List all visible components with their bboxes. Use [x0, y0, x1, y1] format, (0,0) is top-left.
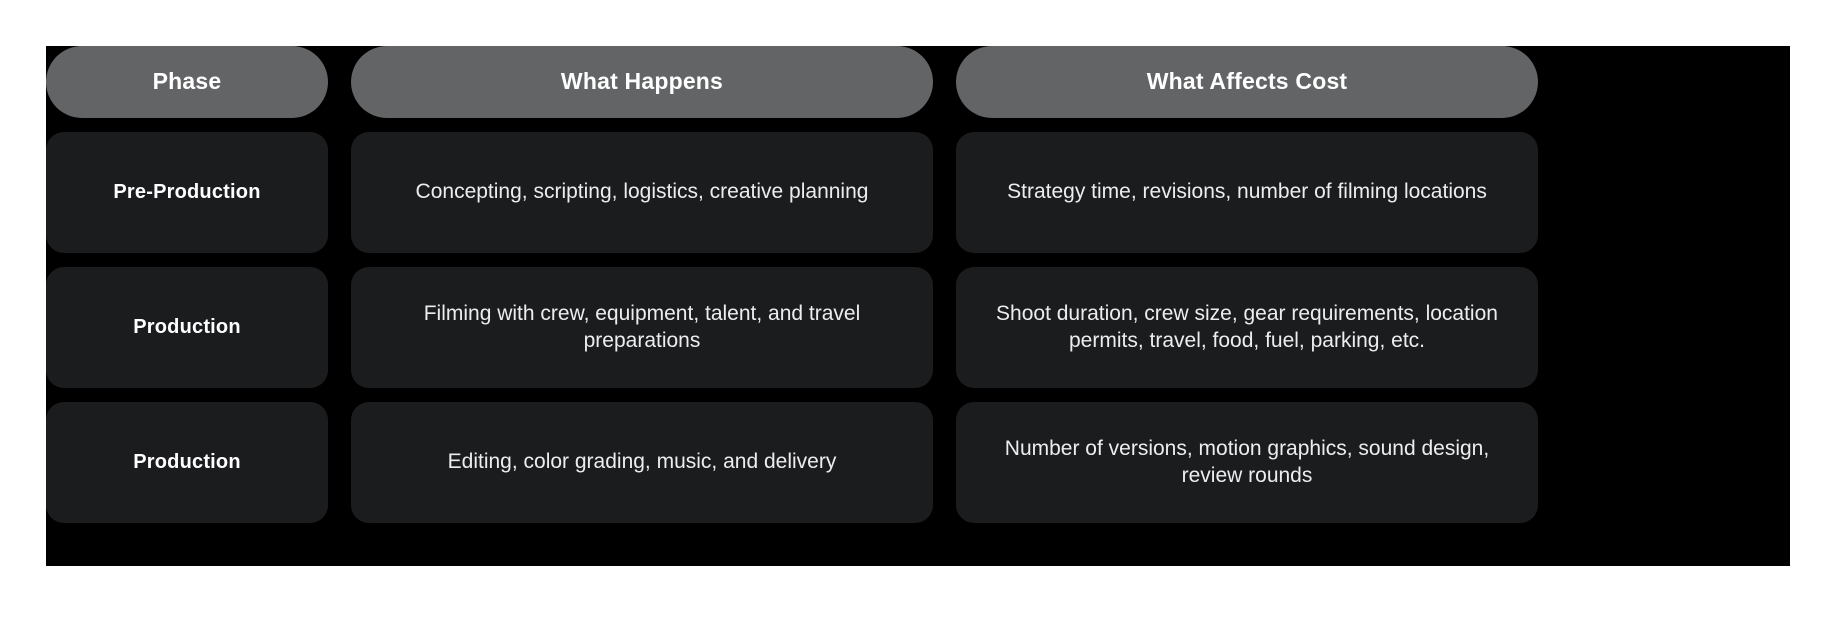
cell-phase[interactable]: Pre-Production — [46, 132, 328, 253]
column-header-what-happens-label: What Happens — [561, 68, 723, 96]
cell-what-affects-cost[interactable]: Number of versions, motion graphics, sou… — [956, 402, 1538, 523]
column-gap — [328, 402, 351, 523]
cell-what-happens-text: Concepting, scripting, logistics, creati… — [416, 179, 869, 206]
column-header-what-affects-cost[interactable]: What Affects Cost — [956, 46, 1538, 118]
column-gap — [933, 267, 956, 388]
cell-what-happens[interactable]: Filming with crew, equipment, talent, an… — [351, 267, 933, 388]
table-row: Production Filming with crew, equipment,… — [46, 267, 1790, 388]
column-gap — [328, 132, 351, 253]
page-root: Phase What Happens What Affects Cost Pre… — [0, 0, 1835, 620]
table-row: Pre-Production Concepting, scripting, lo… — [46, 132, 1790, 253]
column-gap — [933, 402, 956, 523]
production-phases-table: Phase What Happens What Affects Cost Pre… — [46, 46, 1790, 566]
cell-what-affects-cost-text: Number of versions, motion graphics, sou… — [982, 436, 1512, 490]
cell-what-affects-cost-text: Shoot duration, crew size, gear requirem… — [982, 301, 1512, 355]
column-gap — [933, 132, 956, 253]
cell-phase-text: Pre-Production — [113, 180, 260, 206]
column-gap — [933, 46, 956, 118]
cell-phase-text: Production — [133, 315, 241, 341]
table-header-row: Phase What Happens What Affects Cost — [46, 46, 1790, 118]
cell-what-happens-text: Editing, color grading, music, and deliv… — [448, 449, 837, 476]
table-row: Production Editing, color grading, music… — [46, 402, 1790, 523]
column-gap — [328, 46, 351, 118]
cell-what-happens-text: Filming with crew, equipment, talent, an… — [377, 301, 907, 355]
cell-what-affects-cost[interactable]: Shoot duration, crew size, gear requirem… — [956, 267, 1538, 388]
cell-what-happens[interactable]: Editing, color grading, music, and deliv… — [351, 402, 933, 523]
cell-phase-text: Production — [133, 450, 241, 476]
cell-what-affects-cost[interactable]: Strategy time, revisions, number of film… — [956, 132, 1538, 253]
column-header-what-happens[interactable]: What Happens — [351, 46, 933, 118]
column-header-phase-label: Phase — [153, 68, 222, 96]
cell-phase[interactable]: Production — [46, 267, 328, 388]
column-header-phase[interactable]: Phase — [46, 46, 328, 118]
cell-phase[interactable]: Production — [46, 402, 328, 523]
cell-what-affects-cost-text: Strategy time, revisions, number of film… — [1007, 179, 1487, 206]
column-gap — [328, 267, 351, 388]
column-header-what-affects-cost-label: What Affects Cost — [1147, 68, 1348, 96]
cell-what-happens[interactable]: Concepting, scripting, logistics, creati… — [351, 132, 933, 253]
